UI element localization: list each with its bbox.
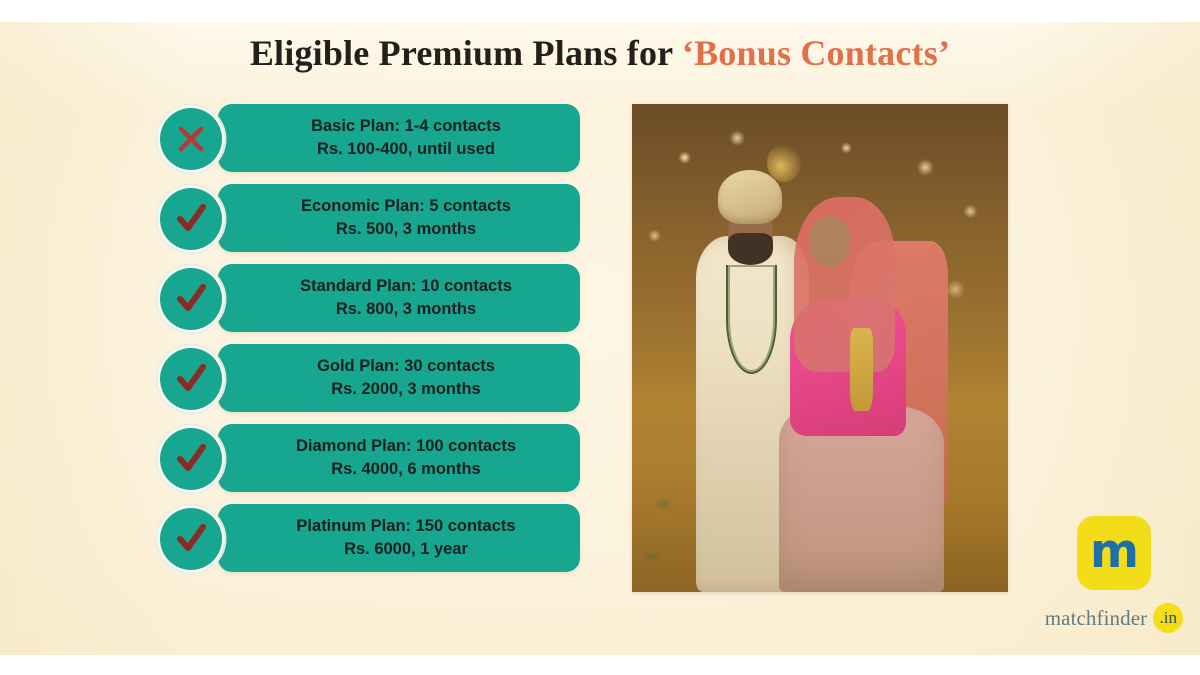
check-icon bbox=[160, 428, 222, 490]
plan-bar: Gold Plan: 30 contacts Rs. 2000, 3 month… bbox=[218, 344, 580, 412]
check-icon bbox=[160, 188, 222, 250]
plan-price: Rs. 6000, 1 year bbox=[344, 538, 468, 561]
plan-price: Rs. 500, 3 months bbox=[336, 218, 476, 241]
plan-price: Rs. 100-400, until used bbox=[317, 138, 495, 161]
cross-icon bbox=[160, 108, 222, 170]
list-item[interactable]: Basic Plan: 1-4 contacts Rs. 100-400, un… bbox=[160, 104, 580, 172]
check-icon bbox=[160, 508, 222, 570]
plan-price: Rs. 2000, 3 months bbox=[331, 378, 480, 401]
plan-bar: Economic Plan: 5 contacts Rs. 500, 3 mon… bbox=[218, 184, 580, 252]
list-item[interactable]: Standard Plan: 10 contacts Rs. 800, 3 mo… bbox=[160, 264, 580, 332]
plan-list: Basic Plan: 1-4 contacts Rs. 100-400, un… bbox=[160, 104, 580, 584]
list-item[interactable]: Platinum Plan: 150 contacts Rs. 6000, 1 … bbox=[160, 504, 580, 572]
logo-word-text: matchfinder bbox=[1045, 606, 1148, 631]
plan-title: Gold Plan: 30 contacts bbox=[317, 355, 495, 378]
groom-necklace bbox=[726, 265, 777, 374]
check-icon bbox=[160, 268, 222, 330]
plan-price: Rs. 4000, 6 months bbox=[331, 458, 480, 481]
plan-title: Standard Plan: 10 contacts bbox=[300, 275, 512, 298]
plan-bar: Standard Plan: 10 contacts Rs. 800, 3 mo… bbox=[218, 264, 580, 332]
page-title-lead: Eligible Premium Plans for bbox=[250, 33, 682, 73]
plan-bar: Diamond Plan: 100 contacts Rs. 4000, 6 m… bbox=[218, 424, 580, 492]
logo-tld-badge: .in bbox=[1153, 603, 1183, 633]
bride-tassel bbox=[850, 328, 873, 411]
photo-background bbox=[632, 104, 1008, 592]
page-title: Eligible Premium Plans for ‘Bonus Contac… bbox=[0, 32, 1200, 74]
plan-title: Basic Plan: 1-4 contacts bbox=[311, 115, 501, 138]
logo-m-icon: m bbox=[1090, 528, 1138, 575]
plan-title: Platinum Plan: 150 contacts bbox=[296, 515, 515, 538]
infographic-canvas: Eligible Premium Plans for ‘Bonus Contac… bbox=[0, 0, 1200, 675]
bride-face bbox=[809, 216, 850, 267]
logo-wordmark: matchfinder .in bbox=[1044, 604, 1184, 633]
check-icon bbox=[160, 348, 222, 410]
plan-price: Rs. 800, 3 months bbox=[336, 298, 476, 321]
matchfinder-logo[interactable]: m matchfinder .in bbox=[1044, 516, 1184, 633]
wedding-couple-photo bbox=[632, 104, 1008, 592]
page-title-accent: ‘Bonus Contacts’ bbox=[682, 33, 950, 73]
plan-title: Economic Plan: 5 contacts bbox=[301, 195, 511, 218]
plan-bar: Basic Plan: 1-4 contacts Rs. 100-400, un… bbox=[218, 104, 580, 172]
logo-tile: m bbox=[1077, 516, 1151, 590]
groom-kalgi bbox=[767, 143, 801, 182]
groom-beard bbox=[728, 233, 773, 265]
plan-title: Diamond Plan: 100 contacts bbox=[296, 435, 516, 458]
list-item[interactable]: Economic Plan: 5 contacts Rs. 500, 3 mon… bbox=[160, 184, 580, 252]
list-item[interactable]: Diamond Plan: 100 contacts Rs. 4000, 6 m… bbox=[160, 424, 580, 492]
plan-bar: Platinum Plan: 150 contacts Rs. 6000, 1 … bbox=[218, 504, 580, 572]
list-item[interactable]: Gold Plan: 30 contacts Rs. 2000, 3 month… bbox=[160, 344, 580, 412]
